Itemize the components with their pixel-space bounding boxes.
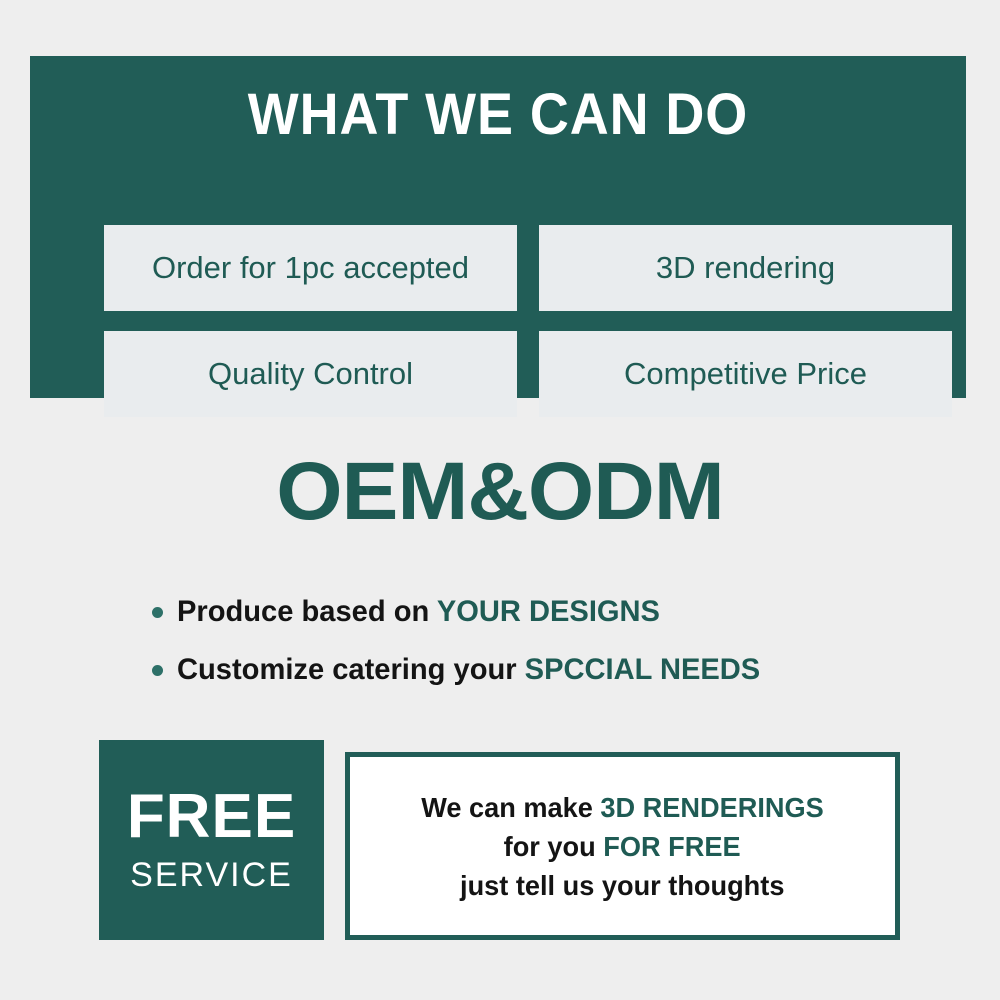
feature-grid: Order for 1pc accepted 3D rendering Qual… (104, 225, 952, 417)
feature-tile-quality-control[interactable]: Quality Control (104, 331, 517, 417)
bullet-lead-text: Customize catering your (177, 653, 525, 686)
offer-line-1-lead: We can make (421, 792, 600, 823)
page-title: WHAT WE CAN DO (104, 78, 893, 152)
free-rendering-offer-panel: We can make 3D RENDERINGS for you FOR FR… (345, 752, 900, 940)
free-label: FREE (127, 784, 296, 850)
bullet-lead-text: Produce based on (177, 595, 437, 628)
feature-tile-3d-rendering[interactable]: 3D rendering (539, 225, 952, 311)
bullet-highlight-text: SPCCIAL NEEDS (525, 653, 761, 686)
feature-label: 3D rendering (656, 250, 835, 286)
feature-tile-order-1pc[interactable]: Order for 1pc accepted (104, 225, 517, 311)
capability-panel: WHAT WE CAN DO Order for 1pc accepted 3D… (30, 56, 966, 398)
offer-line-3: just tell us your thoughts (460, 866, 784, 905)
offer-line-2-highlight: FOR FREE (604, 831, 741, 862)
bullet-text: Customize catering your SPCCIAL NEEDS (177, 653, 760, 687)
offer-line-2: for you FOR FREE (504, 827, 741, 866)
feature-label: Competitive Price (624, 356, 867, 392)
list-item: Produce based on YOUR DESIGNS (152, 583, 912, 641)
bullet-highlight-text: YOUR DESIGNS (437, 595, 660, 628)
feature-label: Order for 1pc accepted (152, 250, 469, 286)
capability-bullet-list: Produce based on YOUR DESIGNS Customize … (152, 583, 912, 699)
promo-poster: WHAT WE CAN DO Order for 1pc accepted 3D… (0, 0, 1000, 1000)
oem-odm-heading: OEM&ODM (0, 442, 1000, 542)
bullet-dot-icon (152, 665, 163, 676)
feature-label: Quality Control (208, 356, 413, 392)
list-item: Customize catering your SPCCIAL NEEDS (152, 641, 912, 699)
bullet-dot-icon (152, 607, 163, 618)
service-label: SERVICE (130, 854, 293, 896)
free-service-badge: FREE SERVICE (99, 740, 324, 940)
offer-line-2-lead: for you (504, 831, 604, 862)
offer-line-1-highlight: 3D RENDERINGS (600, 792, 823, 823)
offer-line-1: We can make 3D RENDERINGS (421, 788, 824, 827)
bullet-text: Produce based on YOUR DESIGNS (177, 595, 660, 629)
feature-tile-competitive-price[interactable]: Competitive Price (539, 331, 952, 417)
